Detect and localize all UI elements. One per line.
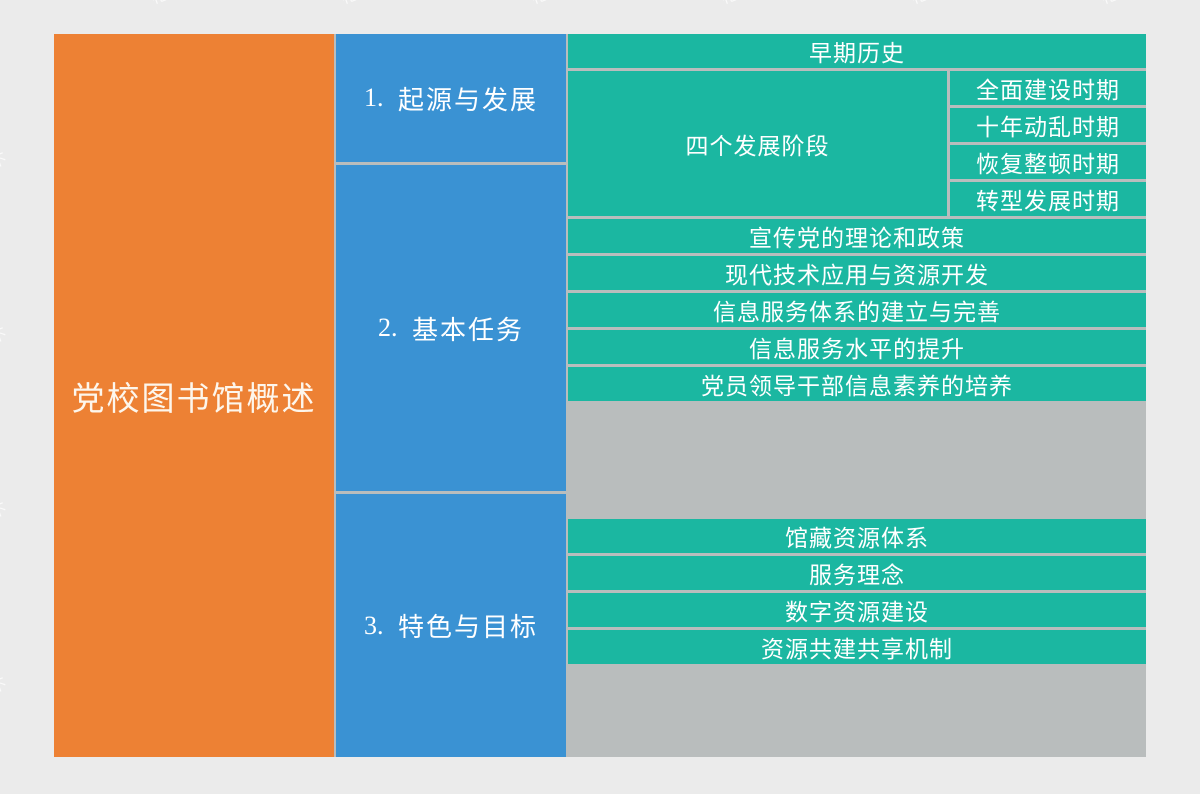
leaf-cell[interactable]: 四个发展阶段 xyxy=(568,71,950,216)
branch-number: 3. xyxy=(364,611,398,641)
leaf-row: 早期历史 xyxy=(568,34,1146,71)
leaf-cell[interactable]: 现代技术应用与资源开发 xyxy=(568,256,1146,290)
sub-leaf-column: 全面建设时期十年动乱时期恢复整顿时期转型发展时期 xyxy=(950,71,1146,216)
leaf-cell[interactable]: 馆藏资源体系 xyxy=(568,519,1146,553)
watermark-text: 花朵不 xyxy=(0,0,10,9)
root-topic-label: 党校图书馆概述 xyxy=(72,372,317,420)
watermark-text: 花朵不 xyxy=(0,497,10,533)
branch-column: 1.起源与发展2.基本任务3.特色与目标 xyxy=(336,34,568,757)
watermark-text: 花朵不 xyxy=(0,147,10,183)
leaf-row: 资源共建共享机制 xyxy=(568,630,1146,664)
branch-cell-1[interactable]: 1.起源与发展 xyxy=(336,34,566,165)
branch-cell-2[interactable]: 2.基本任务 xyxy=(336,165,566,494)
leaf-cell[interactable]: 信息服务体系的建立与完善 xyxy=(568,293,1146,327)
leaf-row: 现代技术应用与资源开发 xyxy=(568,256,1146,293)
sub-leaf-cell[interactable]: 全面建设时期 xyxy=(950,71,1146,108)
watermark-text: 花朵不 xyxy=(338,0,390,9)
sub-leaf-cell[interactable]: 转型发展时期 xyxy=(950,182,1146,216)
watermark-text: 花朵不 xyxy=(0,672,10,708)
leaf-cell[interactable]: 数字资源建设 xyxy=(568,593,1146,627)
branch-label: 基本任务 xyxy=(412,310,524,347)
leaf-row: 信息服务体系的建立与完善 xyxy=(568,293,1146,330)
branch-number: 1. xyxy=(364,83,398,113)
leaf-group-3: 馆藏资源体系服务理念数字资源建设资源共建共享机制 xyxy=(568,519,1146,757)
watermark-text: 花朵不 xyxy=(0,322,10,358)
leaf-row: 服务理念 xyxy=(568,556,1146,593)
root-topic-cell: 党校图书馆概述 xyxy=(54,34,336,757)
watermark-text: 花朵不 xyxy=(908,0,960,9)
leaf-cell[interactable]: 早期历史 xyxy=(568,34,1146,68)
leaf-cell[interactable]: 党员领导干部信息素养的培养 xyxy=(568,367,1146,401)
leaf-group-1: 早期历史四个发展阶段全面建设时期十年动乱时期恢复整顿时期转型发展时期 xyxy=(568,34,1146,219)
watermark-text: 花朵不 xyxy=(148,0,200,9)
branch-label: 特色与目标 xyxy=(398,607,538,644)
leaf-cell[interactable]: 信息服务水平的提升 xyxy=(568,330,1146,364)
watermark-text: 花朵不 xyxy=(1098,0,1150,9)
leaf-row: 馆藏资源体系 xyxy=(568,519,1146,556)
sub-leaf-cell[interactable]: 恢复整顿时期 xyxy=(950,145,1146,182)
leaf-cell[interactable]: 服务理念 xyxy=(568,556,1146,590)
sub-leaf-cell[interactable]: 十年动乱时期 xyxy=(950,108,1146,145)
leaf-row: 党员领导干部信息素养的培养 xyxy=(568,367,1146,401)
mindmap-table: 党校图书馆概述 1.起源与发展2.基本任务3.特色与目标 早期历史四个发展阶段全… xyxy=(54,34,1146,757)
leaf-cell[interactable]: 宣传党的理论和政策 xyxy=(568,219,1146,253)
leaf-row: 信息服务水平的提升 xyxy=(568,330,1146,367)
branch-number: 2. xyxy=(378,313,412,343)
watermark-text: 花朵不 xyxy=(528,0,580,9)
leaf-column: 早期历史四个发展阶段全面建设时期十年动乱时期恢复整顿时期转型发展时期宣传党的理论… xyxy=(568,34,1146,757)
leaf-group-2: 宣传党的理论和政策现代技术应用与资源开发信息服务体系的建立与完善信息服务水平的提… xyxy=(568,219,1146,519)
leaf-row: 宣传党的理论和政策 xyxy=(568,219,1146,256)
leaf-row: 数字资源建设 xyxy=(568,593,1146,630)
leaf-row: 四个发展阶段全面建设时期十年动乱时期恢复整顿时期转型发展时期 xyxy=(568,71,1146,216)
watermark-text: 花朵不 xyxy=(718,0,770,9)
branch-cell-3[interactable]: 3.特色与目标 xyxy=(336,494,566,757)
branch-label: 起源与发展 xyxy=(398,80,538,117)
leaf-cell[interactable]: 资源共建共享机制 xyxy=(568,630,1146,664)
